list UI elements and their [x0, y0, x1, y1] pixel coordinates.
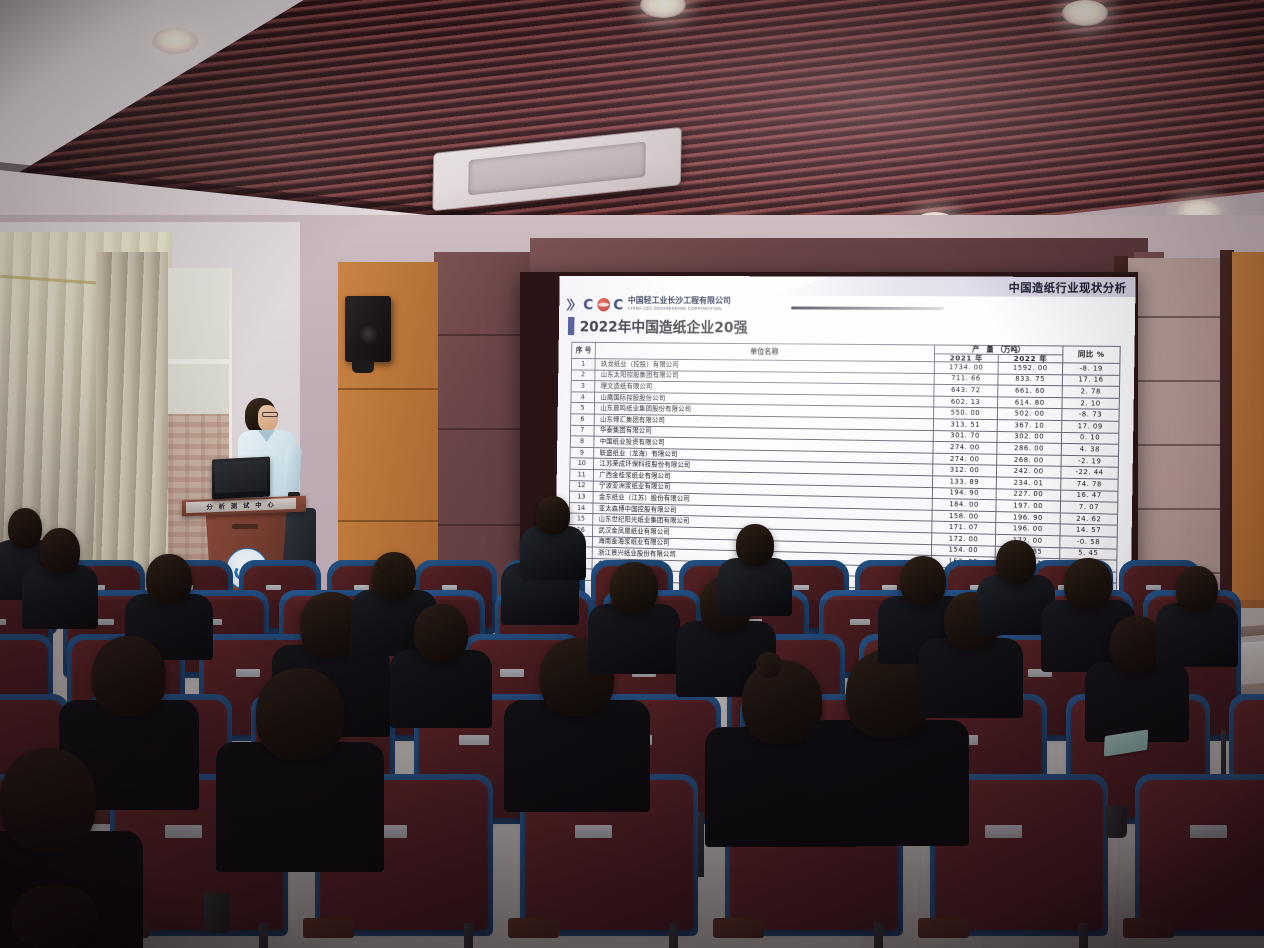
audience-member-head — [92, 636, 166, 716]
row-index: 14 — [569, 502, 593, 514]
seat-armrest — [508, 918, 558, 938]
seat-number-plate — [500, 669, 524, 677]
seat-number-plate — [459, 735, 488, 745]
slide-heading-text: 2022年中国造纸企业20强 — [580, 316, 748, 337]
seat-number-plate — [575, 825, 612, 838]
audience-member-torso — [390, 650, 492, 728]
row-index: 2 — [571, 370, 595, 381]
table-header-group-row: 序 号 单位名称 产 量 （万吨） 同比 % — [572, 342, 1120, 355]
ac-grille — [468, 142, 646, 196]
row-2021: 301. 70 — [933, 430, 997, 442]
row-index: 15 — [569, 513, 593, 525]
audience-member-head — [900, 556, 946, 606]
seat-leg — [464, 923, 472, 948]
presenter-face — [258, 405, 278, 431]
audience-member-torso — [807, 720, 969, 846]
logo-letter-c-left: C — [583, 296, 593, 313]
row-yoy: 17. 09 — [1062, 421, 1119, 433]
row-index: 11 — [570, 469, 594, 481]
audience-member-torso — [22, 565, 98, 629]
row-index: 8 — [570, 436, 594, 447]
row-index: 9 — [570, 447, 594, 458]
row-yoy: -8. 19 — [1063, 363, 1120, 375]
row-2022: 661. 60 — [998, 385, 1063, 397]
audience-member-torso — [1156, 603, 1238, 667]
seat-number-plate — [236, 669, 260, 677]
seat-number-plate — [794, 585, 810, 590]
heading-accent-bar — [568, 317, 575, 335]
seat-number-plate — [266, 585, 282, 590]
wall-speaker-icon — [345, 296, 391, 362]
row-yoy: 17. 16 — [1062, 374, 1119, 386]
audience-member-head — [1064, 558, 1112, 610]
seat-number-plate — [850, 619, 869, 625]
row-index: 5 — [571, 403, 595, 414]
row-yoy: 2. 10 — [1062, 398, 1119, 410]
logo-company-name-en: CHINA CEC ENGINEERING CORPORATION — [628, 306, 731, 311]
seat-armrest — [1123, 918, 1173, 938]
glasses-icon — [262, 412, 278, 417]
cec-logo: 〉〉 C C 中国轻工业长沙工程有限公司 CHINA CEC ENGINEERI… — [566, 295, 731, 314]
laptop-screen — [215, 460, 267, 494]
row-index: 1 — [571, 359, 595, 370]
presenter-laptop — [212, 456, 270, 499]
podium-nameplate-text: 分 析 测 试 中 心 — [206, 500, 275, 512]
row-2022: 1592. 00 — [998, 362, 1063, 374]
audience-member-torso — [919, 638, 1023, 718]
top20-table-wrapper: 序 号 单位名称 产 量 （万吨） 同比 % 2021 年 2022 年 1玖龙… — [568, 342, 1121, 596]
seat-leg — [1079, 923, 1087, 948]
row-yoy: -8. 73 — [1062, 409, 1119, 421]
top20-table: 序 号 单位名称 产 量 （万吨） 同比 % 2021 年 2022 年 1玖龙… — [568, 342, 1121, 596]
downlight-icon — [1062, 0, 1108, 26]
lecture-hall-photo: 中国造纸行业现状分析 〉〉 C C 中国轻工业长沙工程有限公司 CHINA CE… — [0, 0, 1264, 948]
row-yoy: -2. 19 — [1061, 455, 1118, 468]
chevron-double-right-icon: 〉〉 — [566, 295, 579, 313]
seat-leg — [697, 812, 704, 877]
row-index: 13 — [569, 491, 593, 503]
speaker-bracket — [352, 360, 374, 373]
seat-armrest — [713, 918, 763, 938]
seat-armrest — [303, 918, 353, 938]
slide-heading: 2022年中国造纸企业20强 — [568, 316, 748, 337]
downlight-icon — [152, 28, 198, 54]
auditorium-seat[interactable] — [1140, 780, 1264, 930]
seat-number-plate — [165, 825, 202, 838]
logo-rule — [791, 306, 943, 310]
th-index: 序 号 — [572, 342, 596, 359]
seat-armrest — [918, 918, 968, 938]
seat-number-plate — [1190, 825, 1227, 838]
audience-member-head — [610, 562, 658, 614]
audience-member-head — [996, 540, 1036, 584]
row-2022: 302. 00 — [997, 431, 1062, 443]
audience-member-head — [0, 748, 96, 852]
trash-bin — [204, 893, 230, 933]
row-2022: 502. 00 — [997, 408, 1062, 420]
audience-member-head — [12, 884, 98, 948]
row-2021: 711. 66 — [934, 373, 998, 385]
row-2021: 313. 51 — [933, 419, 997, 431]
audience-member-head — [414, 604, 468, 662]
audience-member-torso — [520, 526, 586, 580]
seat-leg — [669, 923, 677, 948]
row-2021: 550. 00 — [934, 407, 998, 419]
seat-leg — [259, 923, 267, 948]
row-yoy: 2. 78 — [1062, 386, 1119, 398]
th-yoy: 同比 % — [1063, 346, 1120, 364]
row-2022: 833. 75 — [998, 374, 1063, 386]
seat-number-plate — [985, 825, 1022, 838]
row-index: 10 — [570, 458, 594, 469]
speaker-cone-icon — [358, 324, 378, 344]
audience-member-head — [736, 524, 774, 566]
audience-member-torso — [504, 700, 650, 812]
trash-bin — [1105, 806, 1127, 838]
hair-bun — [756, 652, 782, 678]
seat-leg — [874, 923, 882, 948]
row-2021: 643. 72 — [934, 385, 998, 397]
audience-member-torso — [216, 742, 384, 872]
logo-letter-c-right: C — [613, 296, 623, 313]
audience-member-head — [8, 508, 42, 548]
row-yoy: 4. 38 — [1061, 444, 1118, 456]
globe-icon — [597, 297, 610, 310]
podium-slot — [232, 524, 258, 529]
seat-number-plate — [0, 619, 6, 625]
row-2021: 602. 13 — [934, 396, 998, 408]
audience-member-head — [40, 528, 80, 574]
row-index: 12 — [570, 480, 594, 492]
row-2022: 367. 10 — [997, 420, 1062, 432]
hair-bun — [376, 556, 394, 574]
audience-member-torso — [588, 604, 680, 674]
audience-member-torso — [718, 558, 792, 616]
audience-member-head — [256, 668, 344, 760]
row-yoy: 0. 10 — [1061, 432, 1118, 444]
row-index: 7 — [570, 425, 594, 436]
audience-member-head — [536, 496, 570, 534]
row-2022: 614. 80 — [998, 397, 1063, 409]
row-index: 4 — [571, 392, 595, 403]
slide-header-title: 中国造纸行业现状分析 — [1008, 280, 1126, 296]
audience-member-head — [146, 554, 192, 604]
row-index: 3 — [571, 381, 595, 392]
audience-member-head — [1176, 566, 1218, 612]
row-index: 6 — [571, 414, 595, 425]
row-2021: 1734. 00 — [934, 362, 998, 374]
